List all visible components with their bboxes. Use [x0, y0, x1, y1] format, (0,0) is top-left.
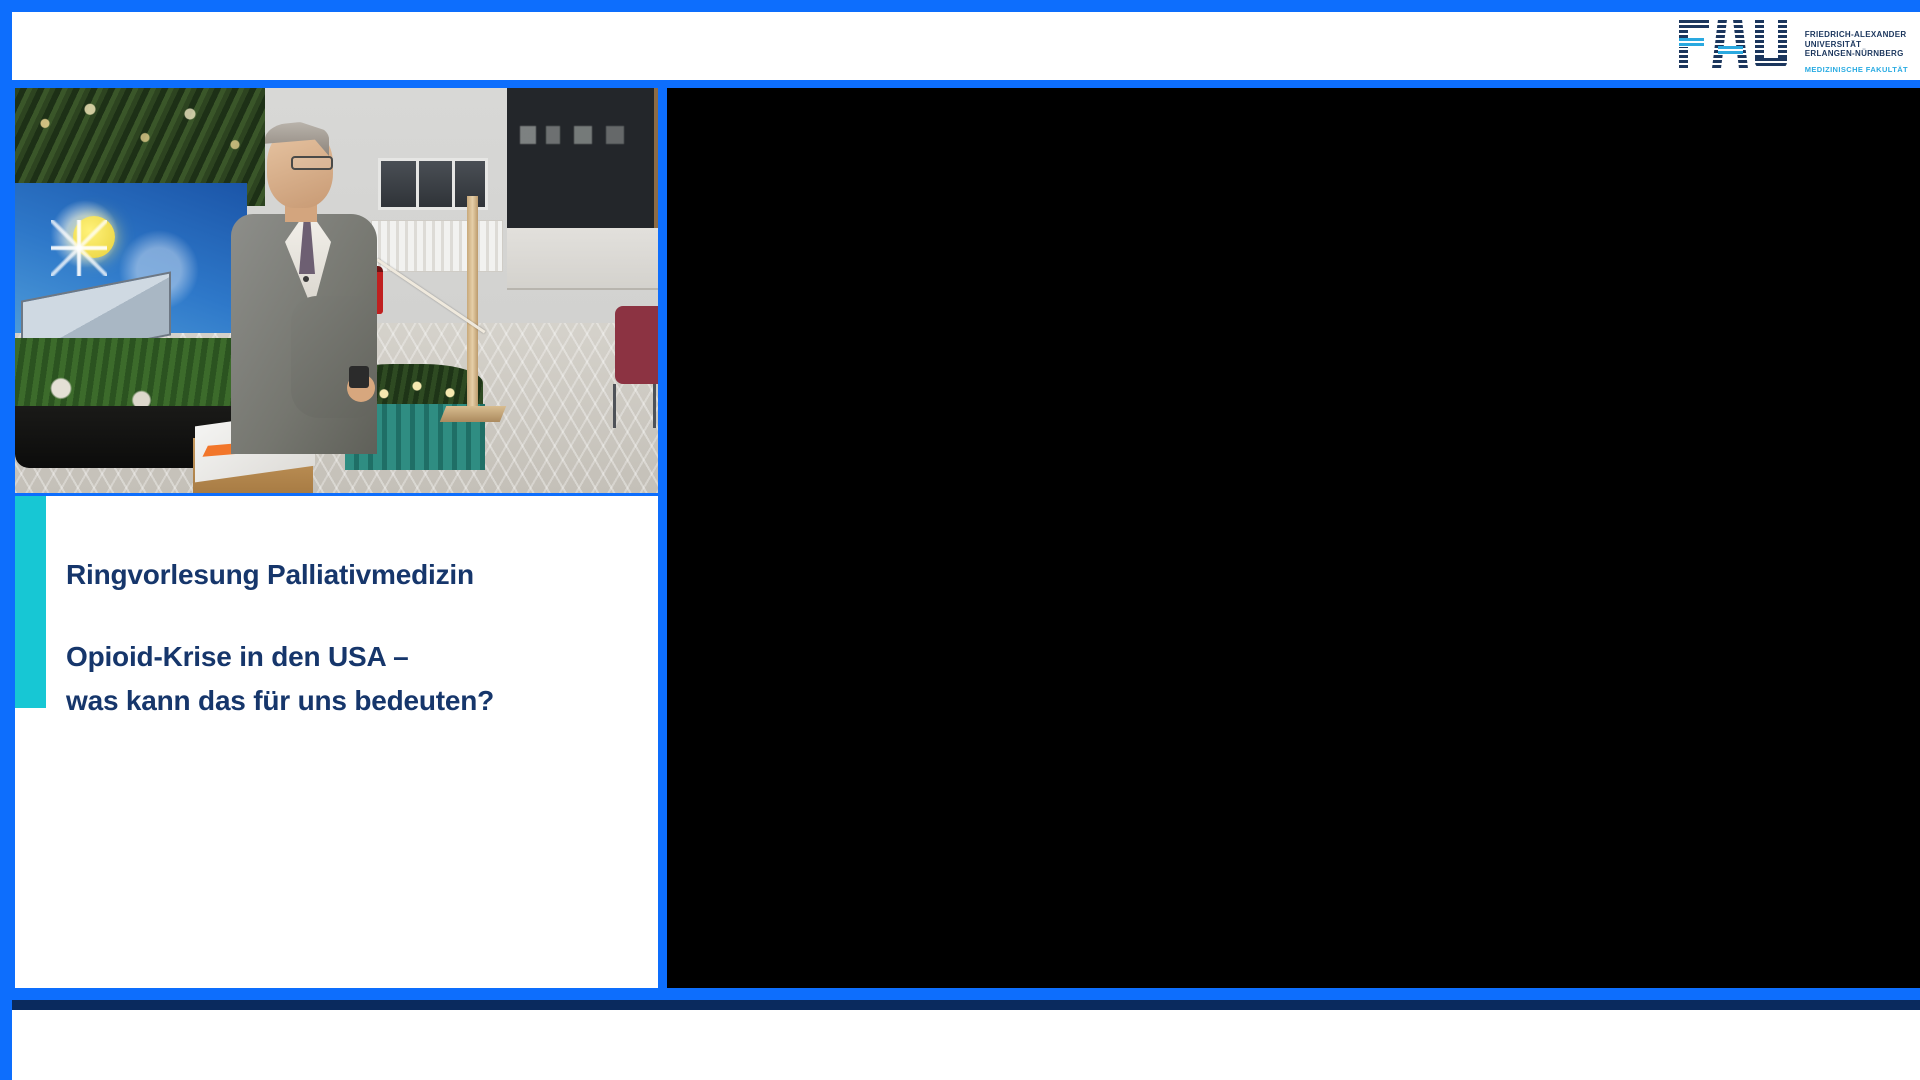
- slide-accent-bar: [15, 496, 46, 708]
- wooden-pole: [467, 196, 478, 414]
- fau-wordmark-icon: [1679, 16, 1797, 72]
- fau-logo-faculty-line: MEDIZINISCHE FAKULTÄT: [1805, 65, 1908, 74]
- chair: [609, 306, 658, 428]
- chalkboard: [507, 88, 658, 228]
- slide-subtitle-line-1: Opioid-Krise in den USA –: [66, 638, 626, 676]
- slide-series-title: Ringvorlesung Palliativmedizin: [66, 558, 626, 592]
- title-slide-card[interactable]: Ringvorlesung Palliativmedizin Opioid-Kr…: [15, 496, 658, 988]
- left-column: Ringvorlesung Palliativmedizin Opioid-Kr…: [12, 88, 661, 988]
- video-stage: Ringvorlesung Palliativmedizin Opioid-Kr…: [12, 88, 1920, 994]
- header-band: FRIEDRICH-ALEXANDER UNIVERSITÄT ERLANGEN…: [12, 12, 1920, 84]
- wall-cabinet: [507, 228, 658, 290]
- chalkboard-writing: [520, 126, 640, 144]
- wooden-pole-base: [440, 406, 506, 422]
- star-decoration: [51, 220, 107, 276]
- speaker-video-tile[interactable]: [15, 88, 658, 493]
- application-window-frame: FRIEDRICH-ALEXANDER UNIVERSITÄT ERLANGEN…: [0, 0, 1920, 1080]
- fau-logo-line-2: UNIVERSITÄT: [1805, 40, 1908, 50]
- presenter-remote: [349, 366, 369, 388]
- slide-title-block: Ringvorlesung Palliativmedizin Opioid-Kr…: [66, 558, 626, 720]
- fau-logo-line-1: FRIEDRICH-ALEXANDER: [1805, 30, 1908, 40]
- presenter-figure: [229, 126, 379, 493]
- eyeglasses-icon: [291, 156, 333, 170]
- footer-band: [12, 1000, 1920, 1080]
- fau-logo: FRIEDRICH-ALEXANDER UNIVERSITÄT ERLANGEN…: [1679, 16, 1908, 74]
- radiator: [371, 220, 503, 272]
- screenshare-panel[interactable]: [667, 88, 1920, 988]
- slide-subtitle-line-2: was kann das für uns bedeuten?: [66, 682, 626, 720]
- fau-logo-line-3: ERLANGEN-NÜRNBERG: [1805, 49, 1908, 59]
- fau-logo-text: FRIEDRICH-ALEXANDER UNIVERSITÄT ERLANGEN…: [1805, 16, 1908, 74]
